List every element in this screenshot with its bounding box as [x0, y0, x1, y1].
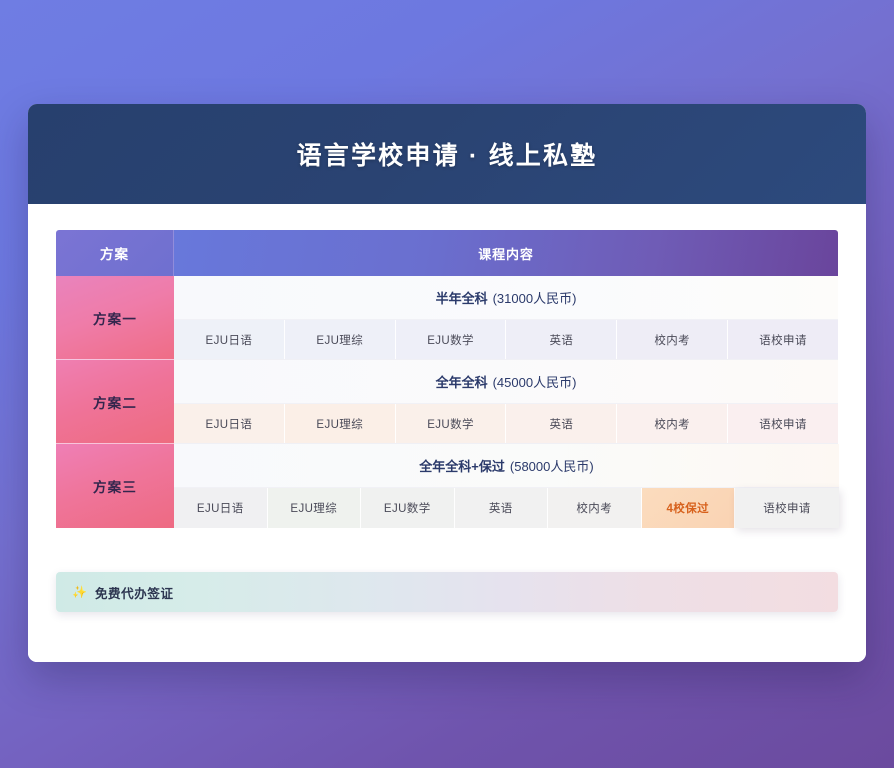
table-row[interactable]: 方案一 半年全科 (31000人民币) EJU日语 EJU理综 EJU数学 英语 [56, 276, 838, 360]
course-cell[interactable]: 语校申请 [735, 488, 839, 528]
course-cell[interactable]: 英语 [506, 320, 617, 359]
table-body: 方案一 半年全科 (31000人民币) EJU日语 EJU理综 EJU数学 英语 [56, 276, 838, 528]
banner-label: 免费代办签证 [95, 583, 174, 602]
free-visa-banner[interactable]: ✨ 免费代办签证 [56, 572, 838, 612]
course-cell[interactable]: EJU数学 [361, 488, 455, 528]
course-cell[interactable]: EJU日语 [174, 320, 285, 359]
plan-card: 语言学校申请 · 线上私塾 方案 课程内容 方案一 半年全科 (31000人民币… [28, 104, 866, 662]
column-header-content: 课程内容 [174, 230, 838, 276]
plan-detail: 全年全科+保过 (58000人民币) EJU日语 EJU理综 EJU数学 英语 … [174, 444, 839, 528]
plan-summary-price: (58000人民币) [510, 456, 594, 475]
plan-summary-name: 半年全科 [436, 288, 488, 307]
sparkle-icon: ✨ [72, 586, 87, 598]
course-cell[interactable]: EJU数学 [396, 320, 507, 359]
table-row[interactable]: 方案三 全年全科+保过 (58000人民币) EJU日语 EJU理综 EJU数学… [56, 444, 838, 528]
plan-summary-name: 全年全科+保过 [419, 456, 505, 475]
plan-name-cell: 方案二 [56, 360, 174, 444]
plan-summary: 全年全科+保过 (58000人民币) [174, 444, 839, 488]
course-strip: EJU日语 EJU理综 EJU数学 英语 校内考 语校申请 [174, 404, 838, 444]
plan-summary-name: 全年全科 [436, 372, 488, 391]
course-cell[interactable]: 英语 [506, 404, 617, 443]
plan-name-cell: 方案一 [56, 276, 174, 360]
card-header: 语言学校申请 · 线上私塾 [28, 104, 866, 204]
course-cell[interactable]: EJU日语 [174, 404, 285, 443]
course-cell[interactable]: 语校申请 [728, 404, 838, 443]
course-cell[interactable]: EJU理综 [285, 320, 396, 359]
page-title: 语言学校申请 · 线上私塾 [297, 136, 598, 172]
course-cell[interactable]: EJU理综 [285, 404, 396, 443]
plan-name-cell: 方案三 [56, 444, 174, 528]
course-cell[interactable]: EJU理综 [268, 488, 362, 528]
course-strip: EJU日语 EJU理综 EJU数学 英语 校内考 语校申请 [174, 320, 838, 360]
plan-summary-price: (45000人民币) [493, 372, 577, 391]
course-strip: EJU日语 EJU理综 EJU数学 英语 校内考 4校保过 语校申请 [174, 488, 839, 528]
course-cell[interactable]: EJU日语 [174, 488, 268, 528]
table-row[interactable]: 方案二 全年全科 (45000人民币) EJU日语 EJU理综 EJU数学 英语 [56, 360, 838, 444]
table-header-row: 方案 课程内容 [56, 230, 838, 276]
course-cell[interactable]: EJU数学 [396, 404, 507, 443]
plan-detail: 半年全科 (31000人民币) EJU日语 EJU理综 EJU数学 英语 校内考… [174, 276, 838, 360]
card-body: 方案 课程内容 方案一 半年全科 (31000人民币) EJU日语 [28, 204, 866, 662]
course-cell[interactable]: 校内考 [617, 320, 728, 359]
course-cell[interactable]: 校内考 [548, 488, 642, 528]
column-header-plan: 方案 [56, 230, 174, 276]
plan-summary: 全年全科 (45000人民币) [174, 360, 838, 404]
course-cell[interactable]: 语校申请 [728, 320, 838, 359]
course-cell[interactable]: 英语 [455, 488, 549, 528]
plan-summary-price: (31000人民币) [493, 288, 577, 307]
plan-detail: 全年全科 (45000人民币) EJU日语 EJU理综 EJU数学 英语 校内考… [174, 360, 838, 444]
course-cell-highlight[interactable]: 4校保过 [642, 488, 736, 528]
plan-table: 方案 课程内容 方案一 半年全科 (31000人民币) EJU日语 [56, 230, 838, 528]
course-cell[interactable]: 校内考 [617, 404, 728, 443]
plan-summary: 半年全科 (31000人民币) [174, 276, 838, 320]
